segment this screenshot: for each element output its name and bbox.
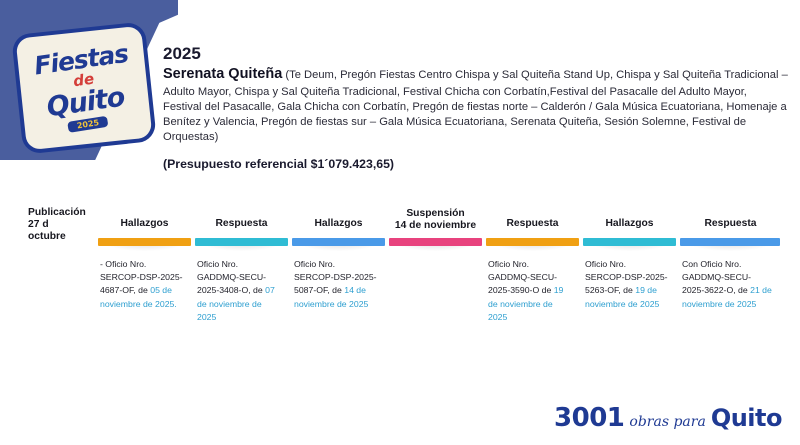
timeline-details: - Oficio Nro. SERCOP-DSP-2025-4687-OF, d… — [0, 258, 800, 368]
timeline-step-label: Respuesta — [678, 206, 783, 230]
header-block: 2025 Serenata Quiteña (Te Deum, Pregón F… — [163, 44, 788, 171]
timeline-step-label: Hallazgos — [290, 206, 387, 230]
timeline-detail-6: Oficio Nro. GADDMQ-SECU-2025-3590-O de 1… — [488, 258, 571, 324]
timeline-step-label: Respuesta — [193, 206, 290, 230]
timeline-bar-2[interactable] — [98, 238, 191, 246]
timeline-step-label-line: 27 d — [28, 219, 49, 230]
timeline-bar-7[interactable] — [583, 238, 676, 246]
footer-script-text: obras para — [629, 414, 705, 430]
timeline-step-5[interactable]: Suspensión14 de noviembre — [387, 206, 484, 232]
timeline-step-label: Respuesta — [484, 206, 581, 230]
timeline-detail-8: Con Oficio Nro. GADDMQ-SECU-2025-3622-O,… — [682, 258, 773, 311]
timeline-step-label-line: Suspensión — [406, 208, 464, 219]
header-year: 2025 — [163, 44, 788, 64]
timeline-bar-8[interactable] — [680, 238, 780, 246]
logo-line-quito: Quito — [45, 83, 126, 121]
header-description-paragraph: Serenata Quiteña (Te Deum, Pregón Fiesta… — [163, 65, 788, 146]
timeline-step-label-line: 14 de noviembre — [395, 220, 476, 231]
timeline-step-label-line: Publicación — [28, 207, 86, 218]
timeline-step-label: Hallazgos — [581, 206, 678, 230]
logo-badge: Fiestas de Quito 2025 — [15, 26, 152, 151]
footer-city: Quito — [711, 404, 782, 432]
timeline-bar-6[interactable] — [486, 238, 579, 246]
timeline-step-8[interactable]: Respuesta — [678, 206, 783, 230]
timeline-step-1[interactable]: Publicación27 doctubre — [28, 206, 96, 243]
detail-document-text: Con Oficio Nro. GADDMQ-SECU-2025-3622-O,… — [682, 259, 751, 295]
timeline-step-label: Suspensión14 de noviembre — [387, 206, 484, 232]
timeline-detail-7: Oficio Nro. SERCOP-DSP-2025-5263-OF, de … — [585, 258, 668, 311]
detail-document-text: Oficio Nro. GADDMQ-SECU-2025-3408-O, de — [197, 259, 266, 295]
timeline-detail-2: - Oficio Nro. SERCOP-DSP-2025-4687-OF, d… — [100, 258, 183, 311]
slide-canvas: Fiestas de Quito 2025 2025 Serenata Quit… — [0, 0, 800, 445]
timeline-step-label-line: octubre — [28, 231, 66, 242]
page-title: Serenata Quiteña — [163, 66, 282, 82]
footer-logo: 3001 obras para Quito — [554, 403, 782, 433]
timeline-bar-3[interactable] — [195, 238, 288, 246]
timeline-step-label: Publicación27 doctubre — [28, 206, 96, 243]
timeline-bar-5[interactable] — [389, 238, 482, 246]
timeline-detail-4: Oficio Nro. SERCOP-DSP-2025-5087-OF, de … — [294, 258, 377, 311]
timeline-detail-3: Oficio Nro. GADDMQ-SECU-2025-3408-O, de … — [197, 258, 280, 324]
fiestas-de-quito-logo: Fiestas de Quito 2025 — [18, 28, 150, 148]
footer-number: 3001 — [554, 403, 624, 433]
timeline-step-7[interactable]: Hallazgos — [581, 206, 678, 230]
timeline-step-2[interactable]: Hallazgos — [96, 206, 193, 230]
timeline: Publicación27 doctubreHallazgosRespuesta… — [0, 206, 800, 256]
timeline-steps-row: Publicación27 doctubreHallazgosRespuesta… — [0, 206, 800, 256]
timeline-step-label: Hallazgos — [96, 206, 193, 230]
header-budget: (Presupuesto referencial $1´079.423,65) — [163, 157, 788, 171]
timeline-step-4[interactable]: Hallazgos — [290, 206, 387, 230]
detail-document-text: Oficio Nro. GADDMQ-SECU-2025-3590-O de — [488, 259, 557, 295]
timeline-step-6[interactable]: Respuesta — [484, 206, 581, 230]
timeline-bar-4[interactable] — [292, 238, 385, 246]
timeline-step-3[interactable]: Respuesta — [193, 206, 290, 230]
